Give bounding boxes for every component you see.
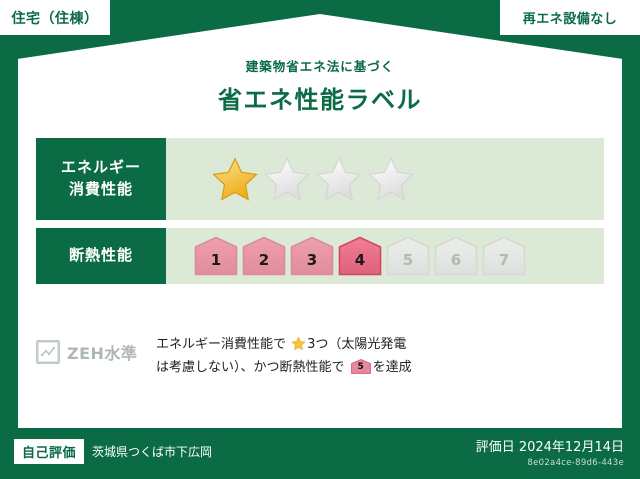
energy-label-line2: 消費性能	[69, 179, 133, 201]
star-icon	[291, 336, 306, 351]
inline-house-number: 5	[351, 359, 371, 374]
zeh-label: ZEH水準	[67, 340, 137, 364]
insulation-level-3: 3	[290, 236, 334, 276]
insulation-level-number: 4	[338, 236, 382, 276]
insulation-level-7: 7	[482, 236, 526, 276]
insulation-level-number: 5	[386, 236, 430, 276]
description-line2-prefix: は考慮しない）、かつ断熱性能で	[156, 360, 345, 375]
insulation-level-number: 1	[194, 236, 238, 276]
insulation-level-number: 2	[242, 236, 286, 276]
energy-consumption-value	[166, 138, 604, 220]
footer-right: 評価日 2024年12月14日 8e02a4ce-89d6-443e	[476, 436, 624, 468]
description-line-1: エネルギー消費性能で 3つ（太陽光発電	[156, 334, 604, 357]
renewable-energy-tag: 再エネ設備なし	[500, 0, 640, 35]
insulation-level-number: 6	[434, 236, 478, 276]
zeh-standard-indicator: ZEH水準	[36, 330, 156, 364]
star-icon-empty	[368, 156, 414, 202]
insulation-value: 1234567	[166, 228, 604, 284]
energy-label-line1: エネルギー	[61, 157, 141, 179]
insulation-row: 断熱性能 1234567	[36, 228, 604, 284]
title-main: 省エネ性能ラベル	[0, 80, 640, 115]
building-type-tag: 住宅（住棟）	[0, 0, 110, 35]
star-icon-empty	[264, 156, 310, 202]
achievement-description: エネルギー消費性能で 3つ（太陽光発電 は考慮しない）、かつ断熱性能で 5 を達…	[156, 330, 604, 380]
insulation-level-number: 3	[290, 236, 334, 276]
insulation-label: 断熱性能	[36, 228, 166, 284]
achievement-info: ZEH水準 エネルギー消費性能で 3つ（太陽光発電 は考慮しない）、かつ断熱性能…	[36, 330, 604, 380]
description-line1-suffix: 3つ（太陽光発電	[307, 337, 406, 352]
label-uid: 8e02a4ce-89d6-443e	[476, 458, 624, 468]
insulation-level-2: 2	[242, 236, 286, 276]
title-subtitle: 建築物省エネ法に基づく	[0, 56, 640, 75]
label-footer: 自己評価 茨城県つくば市下広岡 評価日 2024年12月14日 8e02a4ce…	[0, 428, 640, 479]
insulation-level-5: 5	[386, 236, 430, 276]
label-title: 建築物省エネ法に基づく 省エネ性能ラベル	[0, 56, 640, 115]
star-icon-filled	[212, 156, 258, 202]
inline-house-badge: 5	[351, 359, 371, 374]
insulation-level-number: 7	[482, 236, 526, 276]
insulation-level-scale: 1234567	[194, 236, 526, 276]
star-icon-empty	[316, 156, 362, 202]
energy-consumption-label: エネルギー 消費性能	[36, 138, 166, 220]
star-rating	[212, 156, 414, 202]
insulation-level-1: 1	[194, 236, 238, 276]
property-address: 茨城県つくば市下広岡	[92, 443, 212, 460]
insulation-level-6: 6	[434, 236, 478, 276]
insulation-label-text: 断熱性能	[69, 245, 133, 267]
evaluation-date: 評価日 2024年12月14日	[476, 436, 624, 455]
footer-left: 自己評価 茨城県つくば市下広岡	[14, 439, 212, 464]
self-evaluation-badge: 自己評価	[14, 439, 84, 464]
zeh-checkbox-icon	[36, 340, 60, 364]
energy-performance-label: 住宅（住棟） 再エネ設備なし 建築物省エネ法に基づく 省エネ性能ラベル エネルギ…	[0, 0, 640, 479]
description-line2-suffix: を達成	[373, 360, 412, 375]
rating-rows: エネルギー 消費性能 断熱性能 1234567	[36, 138, 604, 292]
description-line-2: は考慮しない）、かつ断熱性能で 5 を達成	[156, 357, 604, 380]
description-line1-prefix: エネルギー消費性能で	[156, 337, 286, 352]
insulation-level-4: 4	[338, 236, 382, 276]
energy-consumption-row: エネルギー 消費性能	[36, 138, 604, 220]
